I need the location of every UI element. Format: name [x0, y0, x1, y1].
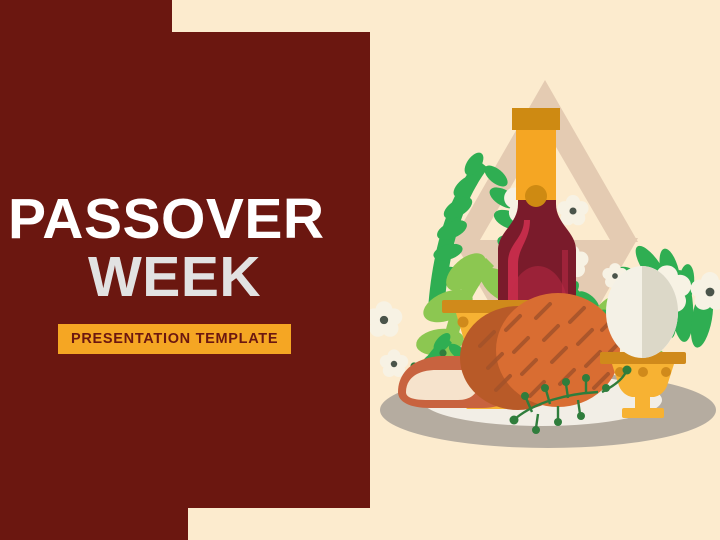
page-title-line-2: WEEK: [0, 250, 370, 306]
slide-canvas: PASSOVER WEEK PRESENTATION TEMPLATE: [0, 0, 720, 540]
bottle-knob: [525, 185, 547, 207]
flower: [691, 272, 720, 310]
passover-seder-illustration: [370, 0, 720, 540]
title-block: PASSOVER WEEK PRESENTATION TEMPLATE: [0, 192, 370, 354]
flower: [380, 349, 408, 377]
flower: [370, 301, 402, 337]
page-title-line-1: PASSOVER: [0, 192, 370, 248]
bottle-cork: [512, 108, 560, 130]
status-badge: PRESENTATION TEMPLATE: [58, 324, 291, 354]
hard-boiled-egg: [606, 266, 678, 358]
